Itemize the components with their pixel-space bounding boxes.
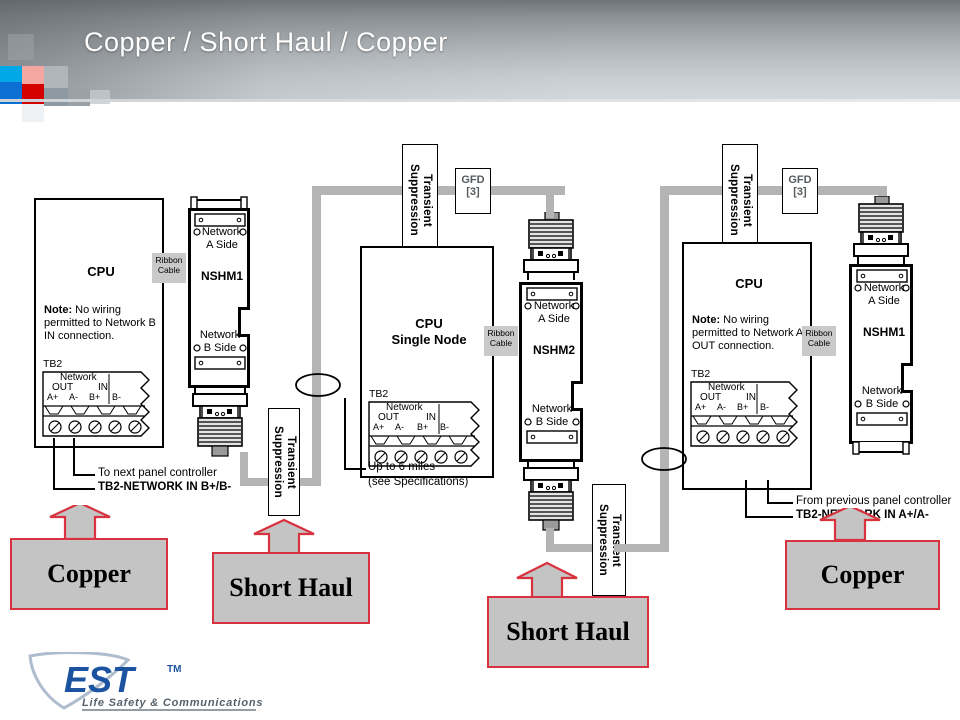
left-nshm1-screw-b-right	[239, 344, 247, 352]
accent-square-5	[22, 84, 44, 106]
accent-square-1	[8, 34, 34, 60]
callout-copper-right-box[interactable]: Copper	[785, 540, 940, 610]
center-tb-pin-b-plus: B+	[417, 422, 428, 432]
center-nshm2-port-a-line1: Network	[522, 300, 586, 313]
center-tb-pin-a-plus: A+	[373, 422, 384, 432]
header-divider	[0, 99, 960, 102]
right-ribbon-line2: Cable	[802, 339, 836, 349]
center-tb-pin-b-minus: B-	[440, 422, 449, 432]
left-nshm1-port-b	[194, 356, 246, 370]
center-distance-leader-horz	[344, 468, 366, 470]
est-logo: EST TM Life Safety & Communications	[24, 652, 274, 714]
cable-right-vertical	[660, 186, 669, 552]
right-callout-line1: From previous panel controller	[796, 495, 951, 509]
center-nshm2-bottom-connector	[521, 460, 581, 536]
left-cpu-note-bold: Note:	[44, 304, 72, 316]
accent-square-4	[22, 66, 44, 86]
right-nshm1-name: NSHM1	[852, 325, 916, 339]
center-distance-line1: Up to 6 miles	[368, 461, 435, 475]
left-nshm1-connector	[190, 386, 250, 458]
est-logo-wordmark: EST	[64, 659, 137, 700]
left-tb-pin-b-plus: B+	[89, 392, 100, 402]
right-tb-pin-b-plus: B+	[737, 402, 748, 412]
center-nshm2-top-connector	[521, 212, 581, 284]
callout-short-haul-left-box[interactable]: Short Haul	[212, 552, 370, 624]
left-wire-b-horz	[73, 474, 95, 476]
callout-short-haul-center[interactable]: Short Haul	[487, 560, 649, 668]
left-lower-transient-suppression-label: TransientSuppression	[271, 426, 297, 498]
page-title: Copper / Short Haul / Copper	[84, 27, 448, 58]
cable-left-vertical	[312, 186, 321, 486]
accent-square-10	[22, 104, 44, 122]
right-wire-a-horz	[767, 502, 793, 504]
est-logo-trademark: TM	[167, 664, 181, 675]
accent-square-8	[68, 88, 90, 106]
left-ribbon-cable-label: Ribbon Cable	[152, 253, 186, 283]
left-gfd-line1: GFD	[456, 174, 490, 186]
right-tb-pin-a-minus: A-	[717, 402, 726, 412]
left-cpu-note: Note: No wiring permitted to Network B I…	[44, 304, 164, 343]
right-wire-b-vert	[745, 480, 747, 518]
right-cpu-note: Note: No wiring permitted to Network A O…	[692, 314, 812, 353]
left-gfd-box[interactable]: GFD [3]	[455, 168, 491, 214]
right-cpu-title: CPU	[684, 276, 814, 291]
center-nshm2-port-a-line2: A Side	[522, 313, 586, 326]
right-nshm1-notch	[901, 363, 913, 393]
left-ribbon-line2: Cable	[152, 266, 186, 276]
cable-center-top-rise	[546, 186, 554, 218]
callout-short-haul-center-box[interactable]: Short Haul	[487, 596, 649, 668]
slide-header: Copper / Short Haul / Copper	[0, 0, 960, 100]
center-nshm2-screw-b-right	[572, 418, 580, 426]
center-nshm2-screw-b-left	[524, 418, 532, 426]
center-cpu-tb-name: TB2	[369, 388, 388, 400]
right-gfd-line2: [3]	[783, 186, 817, 198]
callout-short-haul-left-label: Short Haul	[229, 573, 353, 603]
cable-right-top-horizontal	[660, 186, 780, 195]
right-nshm1-port-a-line2: A Side	[852, 295, 916, 308]
right-cpu-note-bold: Note:	[692, 314, 720, 326]
callout-copper-left-label: Copper	[47, 559, 131, 589]
left-cpu-title: CPU	[36, 264, 166, 279]
center-cpu-title-line2: Single Node	[362, 332, 496, 347]
center-ribbon-cable-label: Ribbon Cable	[484, 326, 518, 356]
left-wire-a-horz	[53, 488, 95, 490]
left-nshm1-port-a-line2: A Side	[191, 239, 253, 252]
center-distance-line2: (see Specifications)	[368, 476, 468, 490]
callout-copper-right-label: Copper	[821, 560, 905, 590]
left-nshm1-port-a-line1: Network	[191, 226, 253, 239]
left-cpu-tb-name: TB2	[43, 358, 62, 370]
left-cable-loop-marker	[294, 372, 342, 398]
right-transient-suppression-label: TransientSuppression	[727, 164, 753, 236]
center-distance-leader-vert	[344, 398, 346, 470]
center-nshm2-port-b	[526, 430, 578, 444]
right-tb-pin-a-plus: A+	[695, 402, 706, 412]
center-nshm2-name: NSHM2	[522, 343, 586, 357]
left-callout-line2: TB2-NETWORK IN B+/B-	[98, 481, 231, 495]
left-tb-pin-a-minus: A-	[69, 392, 78, 402]
center-cpu-panel[interactable]: CPU Single Node TB2 Network OUT IN A+ A-	[360, 246, 494, 478]
right-gfd-box[interactable]: GFD [3]	[782, 168, 818, 214]
right-nshm1-screw-b-right	[902, 400, 910, 408]
left-gfd-line2: [3]	[456, 186, 490, 198]
left-cpu-panel[interactable]: CPU Note: No wiring permitted to Network…	[34, 198, 164, 448]
left-wire-a-vert	[53, 438, 55, 490]
center-tb-pin-a-minus: A-	[395, 422, 404, 432]
left-transient-suppression-label: TransientSuppression	[407, 164, 433, 236]
center-nshm2-port-a	[526, 287, 578, 301]
right-ribbon-cable-label: Ribbon Cable	[802, 326, 836, 356]
slide-canvas: Copper / Short Haul / Copper CPU Note: N…	[0, 0, 960, 720]
right-nshm1-port-b	[856, 412, 908, 426]
left-nshm1-name: NSHM1	[191, 269, 253, 283]
callout-copper-right[interactable]: Copper	[785, 508, 940, 610]
callout-short-haul-left[interactable]: Short Haul	[212, 518, 370, 624]
left-nshm1-screw-b-left	[193, 344, 201, 352]
accent-square-7	[44, 88, 68, 106]
center-nshm2-notch	[571, 381, 583, 411]
cable-left-top-horizontal	[312, 186, 462, 195]
left-wire-b-vert	[73, 438, 75, 476]
center-cpu-title-line1: CPU	[362, 316, 496, 331]
callout-copper-left-box[interactable]: Copper	[10, 538, 168, 610]
callout-short-haul-center-label: Short Haul	[506, 617, 630, 647]
left-nshm1-port-a	[194, 213, 246, 227]
right-nshm1-screw-b-left	[854, 400, 862, 408]
right-nshm1-port-a-line1: Network	[852, 282, 916, 295]
left-nshm1-notch	[238, 307, 250, 337]
right-nshm1-bottom-tab	[851, 442, 911, 456]
right-gfd-line1: GFD	[783, 174, 817, 186]
right-transient-suppression-box[interactable]: TransientSuppression	[722, 144, 758, 256]
left-tb-pin-b-minus: B-	[112, 392, 121, 402]
callout-copper-left[interactable]: Copper	[10, 505, 168, 610]
right-cpu-panel[interactable]: CPU Note: No wiring permitted to Network…	[682, 242, 812, 490]
right-cable-loop-marker	[640, 446, 688, 472]
center-ribbon-line2: Cable	[484, 339, 518, 349]
right-cpu-tb-name: TB2	[691, 368, 710, 380]
right-nshm1-port-a	[856, 269, 908, 283]
est-logo-tagline: Life Safety & Communications	[82, 697, 263, 709]
cable-right-bottom-horz	[614, 544, 668, 552]
right-wire-a-vert	[767, 480, 769, 504]
right-nshm1-top-connector	[851, 196, 911, 268]
accent-square-6	[44, 66, 68, 90]
right-tb-pin-b-minus: B-	[760, 402, 769, 412]
left-lower-transient-suppression-box[interactable]: TransientSuppression	[268, 408, 300, 516]
left-transient-suppression-box[interactable]: TransientSuppression	[402, 144, 438, 256]
left-callout-line1: To next panel controller	[98, 467, 217, 481]
left-tb-pin-a-plus: A+	[47, 392, 58, 402]
